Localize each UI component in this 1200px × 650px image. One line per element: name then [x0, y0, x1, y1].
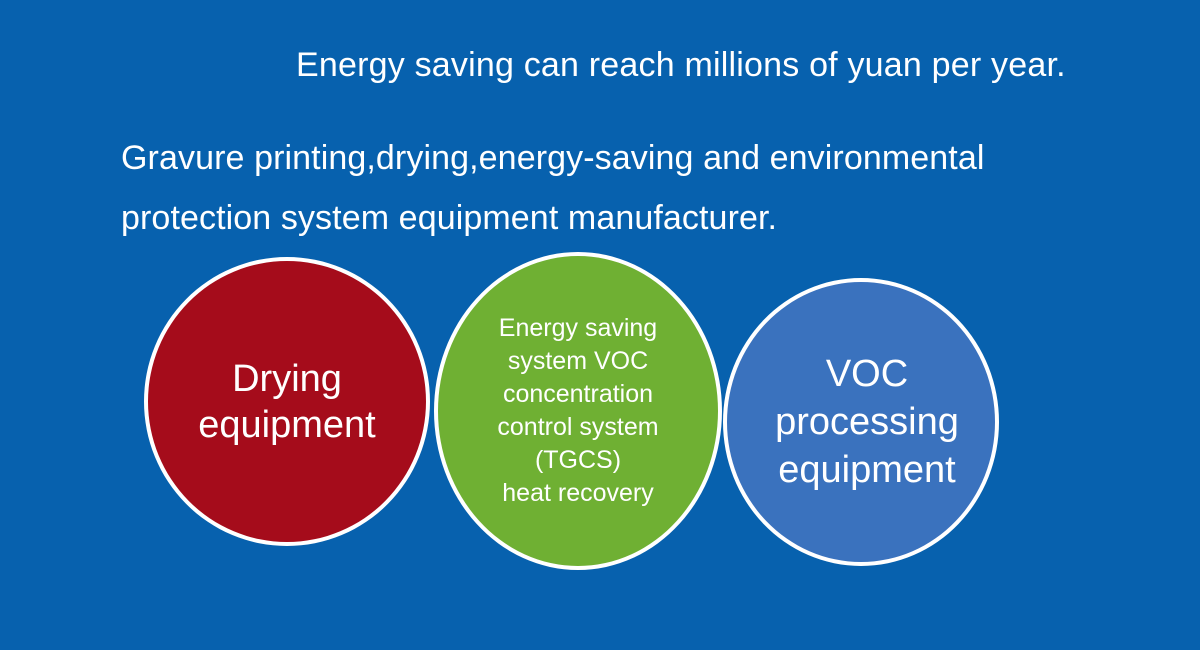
circle-blue-line-2: processing [739, 398, 995, 446]
circle-energy-saving-system: Energy saving system VOC concentration c… [434, 252, 722, 570]
description-line-2: protection system equipment manufacturer… [121, 188, 1161, 248]
circle-green-line-1: Energy saving [444, 312, 712, 345]
circle-drying-equipment: Drying equipment [144, 257, 430, 546]
circle-voc-processing-equipment-label: VOC processing equipment [733, 350, 1001, 494]
tagline-text: Energy saving can reach millions of yuan… [296, 44, 1196, 86]
circle-green-line-5: (TGCS) [444, 444, 712, 477]
circle-green-line-4: control system [444, 411, 712, 444]
circle-blue-line-1: VOC [739, 350, 995, 398]
circle-red-line-1: Drying [154, 356, 420, 402]
circle-drying-equipment-label: Drying equipment [148, 356, 426, 448]
circle-red-line-2: equipment [154, 402, 420, 448]
promotional-banner: Energy saving can reach millions of yuan… [0, 0, 1200, 650]
circle-blue-line-3: equipment [739, 446, 995, 494]
circle-green-line-2: system VOC [444, 345, 712, 378]
description-text: Gravure printing,drying,energy-saving an… [121, 128, 1161, 248]
circle-green-line-3: concentration [444, 378, 712, 411]
circle-green-line-6: heat recovery [444, 477, 712, 510]
circle-voc-processing-equipment: VOC processing equipment [723, 278, 999, 566]
circle-energy-saving-system-label: Energy saving system VOC concentration c… [438, 312, 718, 510]
description-line-1: Gravure printing,drying,energy-saving an… [121, 128, 1161, 188]
